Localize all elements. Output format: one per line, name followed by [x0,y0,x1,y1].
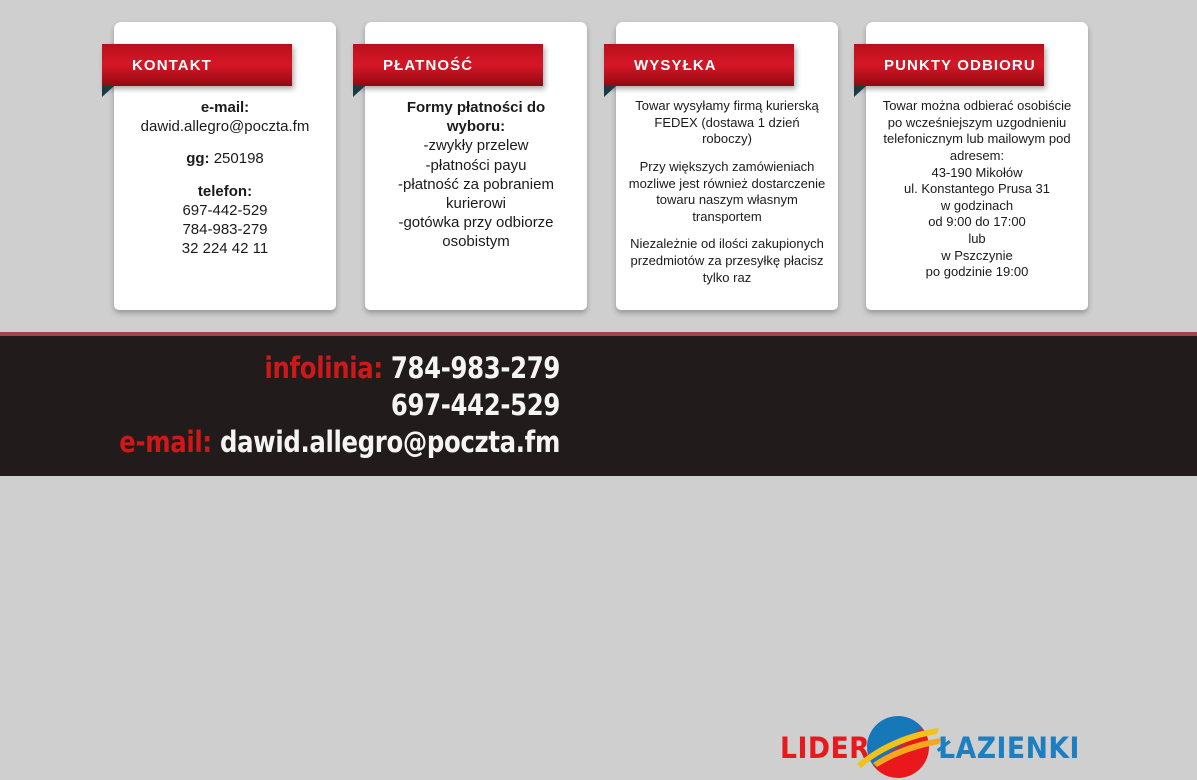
brand-logo: LIDER ŁAZIENKI [775,714,1095,780]
footer-label-email: e-mail: [119,425,212,459]
card-title: KONTAKT [132,57,212,74]
card-line: towaru naszym własnym [622,192,832,209]
card-line: Przy większych zamówieniach [622,159,832,176]
card-line: -gotówka przy odbiorze [371,213,581,232]
card-line: e-mail: [120,98,330,117]
info-card-wysylka: WYSYŁKA Towar wysyłamy firmą kurierską F… [616,22,838,310]
ribbon-fold-icon [353,86,365,97]
ribbon-banner: KONTAKT [102,44,292,86]
footer-label-infolinia: infolinia: [265,351,383,385]
card-body-kontakt: e-mail: dawid.allegro@poczta.fm gg: 2501… [120,98,330,258]
footer-contact-line: e-mail: dawid.allegro@poczta.fm [90,424,560,461]
card-title: PŁATNOŚĆ [383,57,473,74]
card-spacer [120,136,330,149]
card-line: Niezależnie od ilości zakupionych [622,236,832,253]
footer-contact-line: infolinia: 784-983-279 [90,350,560,387]
ribbon-banner: WYSYŁKA [604,44,794,86]
card-line-hours: od 9:00 do 17:00 [872,214,1082,231]
ribbon-banner: PŁATNOŚĆ [353,44,543,86]
card-line-phone: 784-983-279 [120,220,330,239]
card-line: Formy płatności do [371,98,581,117]
card-line-gg: gg: 250198 [120,149,330,168]
card-line: w Pszczynie [872,248,1082,265]
card-line: w godzinach [872,198,1082,215]
card-body-platnosc: Formy płatności do wyboru: -zwykły przel… [371,98,581,252]
info-card-platnosc: PŁATNOŚĆ Formy płatności do wyboru: -zwy… [365,22,587,310]
card-line-hours: po godzinie 19:00 [872,264,1082,281]
card-line: roboczy) [622,131,832,148]
card-line: adresem: [872,148,1082,165]
card-line: przedmiotów za przesyłkę płacisz [622,253,832,270]
card-ribbon-kontakt: KONTAKT [102,44,292,86]
card-line: -zwykły przelew [371,136,581,155]
card-body-wysylka: Towar wysyłamy firmą kurierską FEDEX (do… [622,98,832,286]
footer-contact-block: infolinia: 784-983-279 697-442-529 e-mai… [90,350,560,461]
card-ribbon-wysylka: WYSYŁKA [604,44,794,86]
logo-swoosh-icon [851,718,947,776]
info-card-kontakt: KONTAKT e-mail: dawid.allegro@poczta.fm … [114,22,336,310]
card-line: wyboru: [371,117,581,136]
card-line: -płatność za pobraniem [371,175,581,194]
card-line: osobistym [371,232,581,251]
card-body-punkty-odbioru: Towar można odbierać osobiście po wcześn… [872,98,1082,281]
card-spacer [622,148,832,159]
ribbon-fold-icon [604,86,616,97]
card-line-email: dawid.allegro@poczta.fm [120,117,330,136]
card-line-phone: 697-442-529 [120,201,330,220]
card-line: mozliwe jest również dostarczenie [622,176,832,193]
card-line: lub [872,231,1082,248]
cards-area: KONTAKT e-mail: dawid.allegro@poczta.fm … [0,0,1197,332]
card-line-address: ul. Konstantego Prusa 31 [872,181,1082,198]
ribbon-banner: PUNKTY ODBIORU [854,44,1044,86]
info-card-punkty-odbioru: PUNKTY ODBIORU Towar można odbierać osob… [866,22,1088,310]
card-line: FEDEX (dostawa 1 dzień [622,115,832,132]
card-line-phone: 32 224 42 11 [120,239,330,258]
card-line: Towar wysyłamy firmą kurierską [622,98,832,115]
card-ribbon-platnosc: PŁATNOŚĆ [353,44,543,86]
footer-contact-line: 697-442-529 [90,387,560,424]
ribbon-fold-icon [102,86,114,97]
footer-phone-primary: 784-983-279 [391,351,560,385]
card-line: kurierowi [371,194,581,213]
card-ribbon-punkty-odbioru: PUNKTY ODBIORU [854,44,1044,86]
card-line: -płatności payu [371,156,581,175]
footer-email: dawid.allegro@poczta.fm [220,425,560,459]
gg-label: gg: [186,150,209,167]
logo-word-lazienki: ŁAZIENKI [938,731,1080,765]
gg-value: 250198 [210,150,264,167]
footer-bar: infolinia: 784-983-279 697-442-529 e-mai… [0,336,1197,476]
card-title: PUNKTY ODBIORU [884,57,1036,74]
card-spacer [120,169,330,182]
circle-swoosh-logo-mark [867,716,929,778]
card-line: telefonicznym lub mailowym pod [872,131,1082,148]
card-line-address: 43-190 Mikołów [872,165,1082,182]
card-title: WYSYŁKA [634,57,717,74]
card-spacer [622,225,832,236]
card-line: tylko raz [622,270,832,287]
card-line: Towar można odbierać osobiście [872,98,1082,115]
footer-phone-secondary: 697-442-529 [391,388,560,422]
card-line: transportem [622,209,832,226]
ribbon-fold-icon [854,86,866,97]
card-line: po wcześniejszym uzgodnieniu [872,115,1082,132]
card-line: telefon: [120,182,330,201]
